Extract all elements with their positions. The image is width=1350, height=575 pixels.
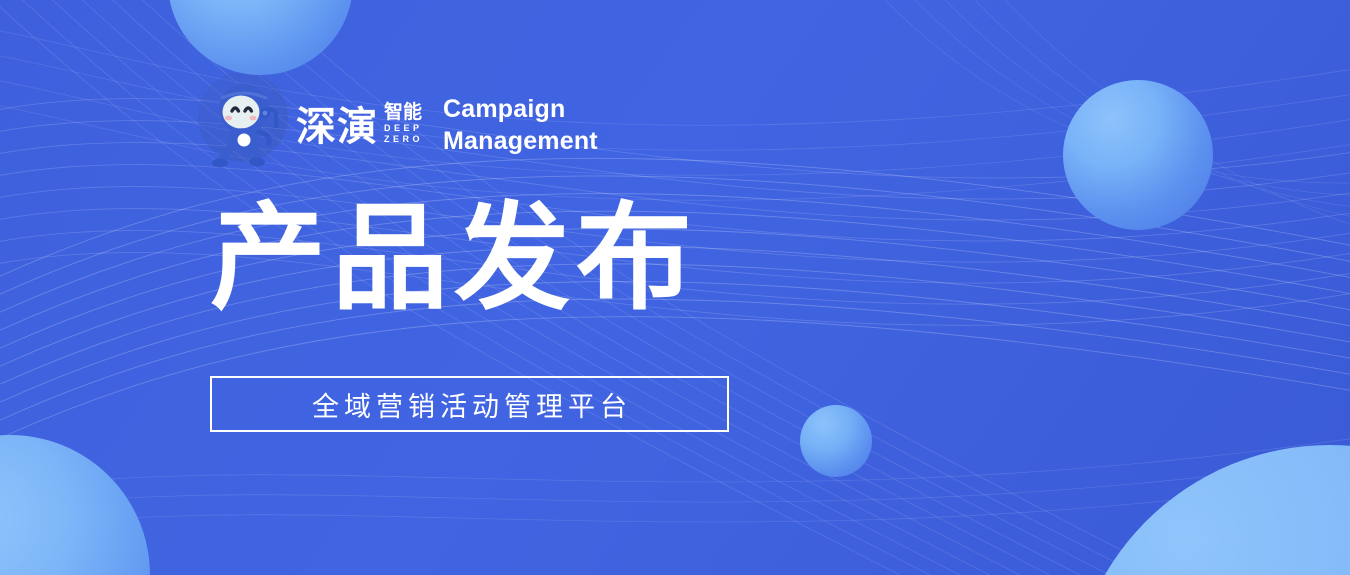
brand-sub-lockup: 智能 DEEP ZERO	[384, 103, 423, 146]
brand-zero-label: ZERO	[384, 134, 423, 145]
page-title: 产品发布	[210, 196, 698, 321]
product-name-en: Campaign Management	[443, 93, 598, 157]
product-name-en-line2: Management	[443, 125, 598, 157]
product-launch-banner: 深演 智能 DEEP ZERO Campaign Management 产品发布…	[0, 0, 1350, 575]
brand-name-cn: 深演	[296, 107, 378, 147]
robot-mascot-icon	[210, 82, 286, 168]
banner-content: 深演 智能 DEEP ZERO Campaign Management 产品发布…	[210, 0, 1110, 575]
product-name-en-line1: Campaign	[443, 93, 598, 125]
brand-chinese-lockup: 深演 智能 DEEP ZERO	[296, 103, 423, 146]
brand-deep-label: DEEP	[384, 123, 423, 134]
brand-suffix-cn: 智能	[384, 103, 422, 123]
brand-logo: 深演 智能 DEEP ZERO Campaign Management	[210, 82, 598, 168]
subtitle-text: 全域营销活动管理平台	[307, 385, 632, 424]
subtitle-frame: 全域营销活动管理平台	[210, 376, 729, 432]
